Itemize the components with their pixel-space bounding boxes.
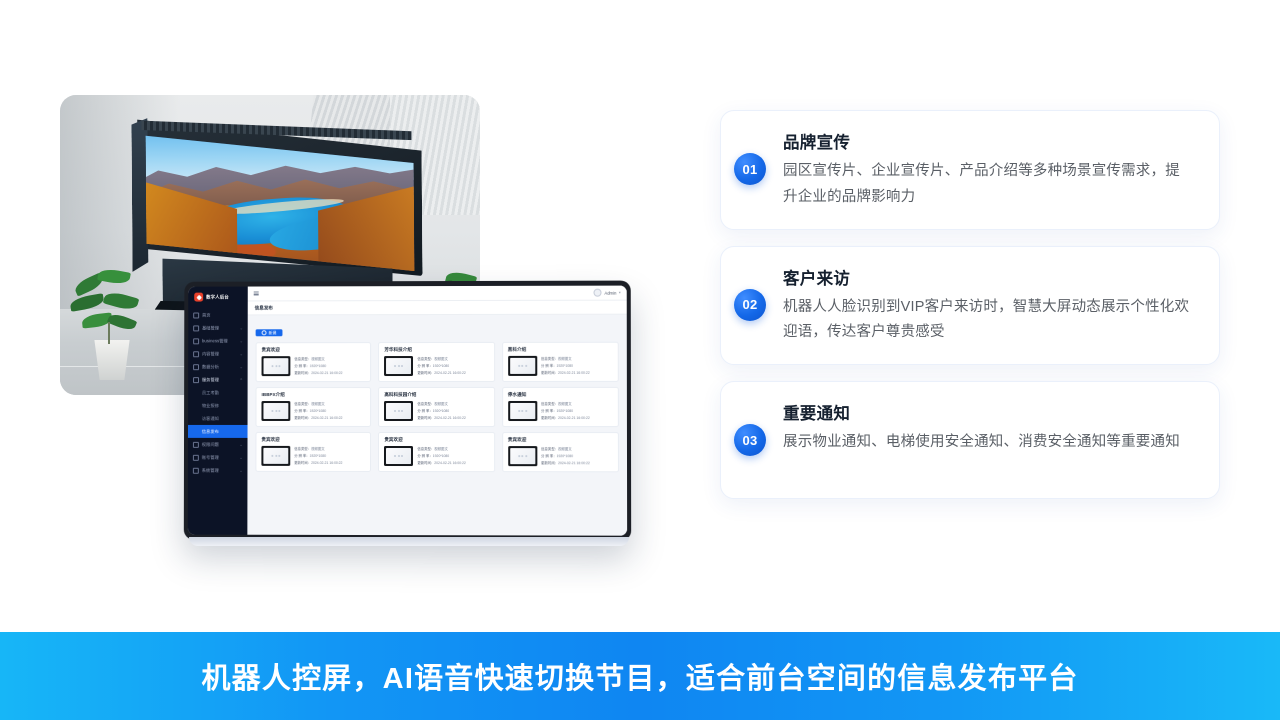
- meta-value-resolution: 1920*1080: [433, 454, 449, 458]
- meta-value-type: 视频图文: [558, 357, 572, 361]
- admin-sidebar: 数字人后台 首页 基础管理 ⌄: [188, 287, 248, 535]
- meta-label-updated: 更新时间：: [294, 416, 311, 420]
- chevron-down-icon: ⌄: [240, 326, 243, 330]
- card-thumbnail: [384, 356, 413, 376]
- card-thumbnail: [261, 446, 290, 466]
- meta-value-updated: 2024-02-21 16:00:22: [434, 461, 466, 465]
- content-card[interactable]: 停水通知 信息类型：视频图文 分 辨 率：1920*1080 更新时间：2024…: [502, 387, 619, 427]
- feature-number-badge: 01: [734, 153, 766, 185]
- content-card-grid: 贵宾欢迎 信息类型：视频图文 分 辨 率：1920*1080 更新时间：2024…: [255, 342, 619, 473]
- meta-label-resolution: 分 辨 率：: [294, 364, 309, 368]
- admin-console-device: 数字人后台 首页 基础管理 ⌄: [183, 281, 630, 540]
- card-meta: 信息类型：视频图文 分 辨 率：1920*1080 更新时间：2024-02-2…: [294, 356, 365, 376]
- sidebar-item-content[interactable]: 内容管理 ⌄: [188, 347, 248, 360]
- feature-description: 园区宣传片、企业宣传片、产品介绍等多种场景宣传需求，提升企业的品牌影响力: [783, 159, 1193, 211]
- sidebar-item-label: business管理: [202, 338, 228, 344]
- content-card[interactable]: IBBPX介绍 信息类型：视频图文 分 辨 率：1920*1080 更新时间：2…: [255, 387, 371, 427]
- meta-value-updated: 2024-02-21 16:00:22: [434, 370, 466, 374]
- meta-value-updated: 2024-02-21 16:00:22: [311, 416, 342, 420]
- banner-text: 机器人控屏，AI语音快速切换节目，适合前台空间的信息发布平台: [201, 655, 1078, 697]
- home-icon: [193, 312, 199, 318]
- service-icon: [193, 377, 199, 383]
- new-button-label: 新建: [269, 330, 277, 336]
- meta-label-type: 信息类型：: [541, 402, 558, 406]
- meta-value-updated: 2024-02-21 16:00:22: [558, 461, 590, 465]
- meta-label-type: 信息类型：: [294, 447, 311, 451]
- meta-value-type: 视频图文: [311, 402, 325, 406]
- sidebar-item-label: 账号管理: [202, 454, 219, 460]
- meta-label-type: 信息类型：: [417, 357, 434, 361]
- meta-value-resolution: 1920*1080: [310, 409, 326, 413]
- card-title: IBBPX介绍: [261, 392, 365, 398]
- meta-value-updated: 2024-02-21 16:00:22: [558, 370, 590, 374]
- feature-card-list: 01 品牌宣传 园区宣传片、企业宣传片、产品介绍等多种场景宣传需求，提升企业的品…: [720, 110, 1220, 515]
- meta-value-resolution: 1920*1080: [433, 409, 449, 413]
- meta-value-resolution: 1920*1080: [310, 364, 326, 368]
- content-card[interactable]: 贵宾欢迎 信息类型：视频图文 分 辨 率：1920*1080 更新时间：2024…: [502, 432, 619, 472]
- card-thumbnail: [508, 446, 537, 466]
- device-screen: 数字人后台 首页 基础管理 ⌄: [188, 286, 627, 536]
- card-meta: 信息类型：视频图文 分 辨 率：1920*1080 更新时间：2024-02-2…: [294, 401, 365, 421]
- breadcrumb: 信息发布: [248, 301, 627, 316]
- avatar: [594, 289, 602, 297]
- bottom-banner: 机器人控屏，AI语音快速切换节目，适合前台空间的信息发布平台: [0, 632, 1280, 720]
- meta-label-resolution: 分 辨 率：: [417, 364, 432, 368]
- meta-label-type: 信息类型：: [294, 402, 311, 406]
- content-card[interactable]: 贵宾欢迎 信息类型：视频图文 分 辨 率：1920*1080 更新时间：2024…: [255, 432, 371, 472]
- doc-icon: [193, 351, 199, 357]
- chevron-down-icon: ▾: [619, 291, 621, 295]
- card-title: 芳华科技介绍: [384, 347, 488, 353]
- meta-value-type: 视频图文: [558, 402, 572, 406]
- meta-value-type: 视频图文: [434, 447, 448, 451]
- admin-content: 新建 贵宾欢迎 信息类型：视频图文 分 辨 率：1920*108: [247, 315, 627, 536]
- meta-label-resolution: 分 辨 率：: [294, 454, 309, 458]
- chevron-down-icon: ⌄: [239, 468, 242, 472]
- grid-icon: [193, 325, 199, 331]
- content-card[interactable]: 黑科介绍 信息类型：视频图文 分 辨 率：1920*1080 更新时间：2024…: [502, 342, 619, 382]
- sidebar-item-business[interactable]: business管理 ⌄: [188, 334, 248, 347]
- sidebar-item-account[interactable]: 账号管理 ⌄: [188, 451, 248, 464]
- sidebar-item-label: 系统管理: [202, 467, 219, 473]
- card-meta: 信息类型：视频图文 分 辨 率：1920*1080 更新时间：2024-02-2…: [417, 446, 488, 466]
- meta-label-resolution: 分 辨 率：: [541, 454, 557, 458]
- meta-value-resolution: 1920*1080: [557, 454, 574, 458]
- card-title: 高科科技园介绍: [384, 392, 488, 398]
- card-meta: 信息类型：视频图文 分 辨 率：1920*1080 更新时间：2024-02-2…: [417, 356, 488, 376]
- chevron-down-icon: ⌄: [240, 339, 243, 343]
- content-card[interactable]: 高科科技园介绍 信息类型：视频图文 分 辨 率：1920*1080 更新时间：2…: [378, 387, 494, 427]
- feature-card-important-notice[interactable]: 03 重要通知 展示物业通知、电梯使用安全通知、消费安全通知等重要通知: [720, 381, 1220, 499]
- sidebar-item-basic[interactable]: 基础管理 ⌄: [188, 321, 248, 334]
- card-thumbnail: [261, 401, 290, 421]
- meta-value-updated: 2024-02-21 16:00:22: [311, 371, 342, 375]
- meta-label-type: 信息类型：: [541, 357, 558, 361]
- sidebar-item-label: 基础管理: [202, 325, 219, 331]
- card-title: 停水通知: [508, 392, 613, 398]
- chevron-up-icon: ⌃: [240, 378, 243, 382]
- content-card[interactable]: 芳华科技介绍 信息类型：视频图文 分 辨 率：1920*1080 更新时间：20…: [378, 342, 494, 382]
- meta-label-updated: 更新时间：: [417, 371, 434, 375]
- plant-pot-left: [90, 340, 134, 380]
- card-meta: 信息类型：视频图文 分 辨 率：1920*1080 更新时间：2024-02-2…: [541, 446, 613, 466]
- card-thumbnail: [384, 446, 413, 466]
- feature-title: 重要通知: [783, 400, 1193, 424]
- box-icon: [193, 338, 199, 344]
- meta-value-type: 视频图文: [558, 447, 572, 451]
- sidebar-item-attendance[interactable]: 员工考勤: [188, 386, 248, 399]
- chevron-down-icon: ⌄: [240, 455, 243, 459]
- meta-value-type: 视频图文: [311, 357, 325, 361]
- sidebar-item-repair[interactable]: 物业报修: [188, 399, 248, 412]
- feature-title: 品牌宣传: [783, 129, 1193, 153]
- sidebar-item-analytics[interactable]: 数据分析 ⌄: [188, 360, 248, 373]
- meta-value-resolution: 1920*1080: [557, 409, 574, 413]
- meta-label-updated: 更新时间：: [417, 416, 434, 420]
- admin-logo-text: 数字人后台: [206, 294, 229, 300]
- user-name: Admin: [604, 290, 616, 295]
- feature-card-customer-visit[interactable]: 02 客户来访 机器人人脸识别到VIP客户来访时，智慧大屏动态展示个性化欢迎语，…: [720, 246, 1220, 366]
- sidebar-item-label: 权限问题: [202, 441, 219, 447]
- card-meta: 信息类型：视频图文 分 辨 率：1920*1080 更新时间：2024-02-2…: [541, 401, 613, 421]
- meta-label-resolution: 分 辨 率：: [417, 454, 432, 458]
- sidebar-item-label: 数据分析: [202, 364, 219, 370]
- meta-label-resolution: 分 辨 率：: [417, 409, 432, 413]
- plus-icon: [262, 330, 267, 335]
- admin-logo: 数字人后台: [188, 287, 248, 309]
- card-title: 贵宾欢迎: [262, 347, 366, 353]
- chevron-down-icon: ⌄: [240, 365, 243, 369]
- feature-number-badge: 02: [734, 289, 766, 321]
- sidebar-item-home[interactable]: 首页: [188, 308, 247, 321]
- card-thumbnail: [508, 401, 537, 421]
- meta-label-updated: 更新时间：: [294, 371, 311, 375]
- gear-icon: [193, 467, 199, 473]
- chevron-down-icon: ⌄: [240, 352, 243, 356]
- menu-collapse-icon[interactable]: [254, 291, 259, 295]
- sidebar-item-label: 首页: [202, 312, 211, 318]
- sidebar-item-label: 访客通知: [202, 415, 219, 421]
- device-frame: 数字人后台 首页 基础管理 ⌄: [184, 281, 631, 541]
- feature-title: 客户来访: [783, 265, 1193, 289]
- sidebar-item-label: 物业报修: [202, 403, 219, 409]
- brand-logo-icon: [194, 293, 203, 302]
- meta-label-resolution: 分 辨 率：: [541, 409, 557, 413]
- meta-label-type: 信息类型：: [294, 357, 311, 361]
- meta-value-type: 视频图文: [434, 357, 448, 361]
- sidebar-item-label: 员工考勤: [202, 390, 219, 396]
- meta-value-type: 视频图文: [434, 402, 448, 406]
- card-thumbnail: [262, 356, 291, 376]
- content-card[interactable]: 贵宾欢迎 信息类型：视频图文 分 辨 率：1920*1080 更新时间：2024…: [378, 432, 494, 472]
- meta-value-type: 视频图文: [311, 447, 325, 451]
- admin-sidebar-nav: 首页 基础管理 ⌄ business管理 ⌄: [188, 308, 248, 534]
- card-meta: 信息类型：视频图文 分 辨 率：1920*1080 更新时间：2024-02-2…: [294, 446, 365, 466]
- admin-main: Admin ▾ 信息发布 新建: [247, 286, 627, 536]
- card-title: 黑科介绍: [508, 347, 613, 353]
- feature-description: 展示物业通知、电梯使用安全通知、消费安全通知等重要通知: [783, 430, 1193, 456]
- sidebar-item-permission[interactable]: 权限问题 ⌄: [188, 438, 248, 451]
- meta-value-resolution: 1920*1080: [310, 454, 326, 458]
- meta-label-type: 信息类型：: [417, 447, 434, 451]
- new-button[interactable]: 新建: [256, 329, 283, 337]
- potted-plant-left: [68, 270, 156, 380]
- sidebar-item-label: 服务管理: [202, 377, 219, 383]
- user-icon: [193, 454, 199, 460]
- admin-topbar: Admin ▾: [248, 286, 627, 302]
- meta-value-resolution: 1920*1080: [433, 364, 449, 368]
- meta-label-updated: 更新时间：: [417, 461, 434, 465]
- meta-label-resolution: 分 辨 率：: [294, 409, 309, 413]
- meta-label-updated: 更新时间：: [294, 460, 311, 464]
- meta-label-type: 信息类型：: [417, 402, 434, 406]
- card-thumbnail: [508, 356, 537, 376]
- led-display-assembly: [131, 111, 432, 293]
- chevron-down-icon: ⌄: [240, 442, 243, 446]
- meta-label-updated: 更新时间：: [541, 416, 558, 420]
- meta-value-updated: 2024-02-21 16:00:22: [558, 416, 590, 420]
- leaf: [103, 290, 140, 313]
- meta-label-updated: 更新时间：: [541, 461, 558, 465]
- leaf: [107, 311, 137, 333]
- sidebar-item-service[interactable]: 服务管理 ⌃: [188, 373, 248, 386]
- feature-number-badge: 03: [734, 424, 766, 456]
- lock-icon: [193, 441, 199, 447]
- meta-label-type: 信息类型：: [541, 447, 558, 451]
- sidebar-item-label: 信息发布: [202, 428, 219, 434]
- card-thumbnail: [384, 401, 413, 421]
- leaf: [69, 293, 105, 312]
- card-meta: 信息类型：视频图文 分 辨 率：1920*1080 更新时间：2024-02-2…: [541, 356, 613, 376]
- device-base: [189, 537, 629, 546]
- sidebar-item-info-publish[interactable]: 信息发布: [188, 425, 248, 438]
- chart-icon: [193, 364, 199, 370]
- meta-value-updated: 2024-02-21 16:00:22: [434, 416, 466, 420]
- sidebar-item-system[interactable]: 系统管理 ⌄: [188, 464, 248, 477]
- meta-value-resolution: 1920*1080: [556, 364, 573, 368]
- card-title: 贵宾欢迎: [508, 437, 613, 443]
- page-title: 信息发布: [255, 305, 273, 311]
- card-title: 贵宾欢迎: [384, 437, 488, 443]
- meta-label-updated: 更新时间：: [541, 370, 558, 374]
- meta-value-updated: 2024-02-21 16:00:22: [311, 460, 342, 464]
- feature-description: 机器人人脸识别到VIP客户来访时，智慧大屏动态展示个性化欢迎语，传达客户尊贵感受: [783, 295, 1193, 347]
- user-menu[interactable]: Admin ▾: [594, 289, 621, 297]
- page-root: 数字人后台 首页 基础管理 ⌄: [0, 0, 1280, 720]
- feature-card-brand-promotion[interactable]: 01 品牌宣传 园区宣传片、企业宣传片、产品介绍等多种场景宣传需求，提升企业的品…: [720, 110, 1220, 230]
- sidebar-item-label: 内容管理: [202, 351, 219, 357]
- sidebar-item-visitor-notice[interactable]: 访客通知: [188, 412, 248, 425]
- meta-label-resolution: 分 辨 率：: [541, 364, 557, 368]
- card-meta: 信息类型：视频图文 分 辨 率：1920*1080 更新时间：2024-02-2…: [417, 401, 488, 421]
- card-title: 贵宾欢迎: [261, 437, 365, 443]
- leaf: [97, 267, 131, 285]
- plant-stem: [108, 322, 110, 344]
- content-card[interactable]: 贵宾欢迎 信息类型：视频图文 分 辨 率：1920*1080 更新时间：2024…: [256, 342, 372, 382]
